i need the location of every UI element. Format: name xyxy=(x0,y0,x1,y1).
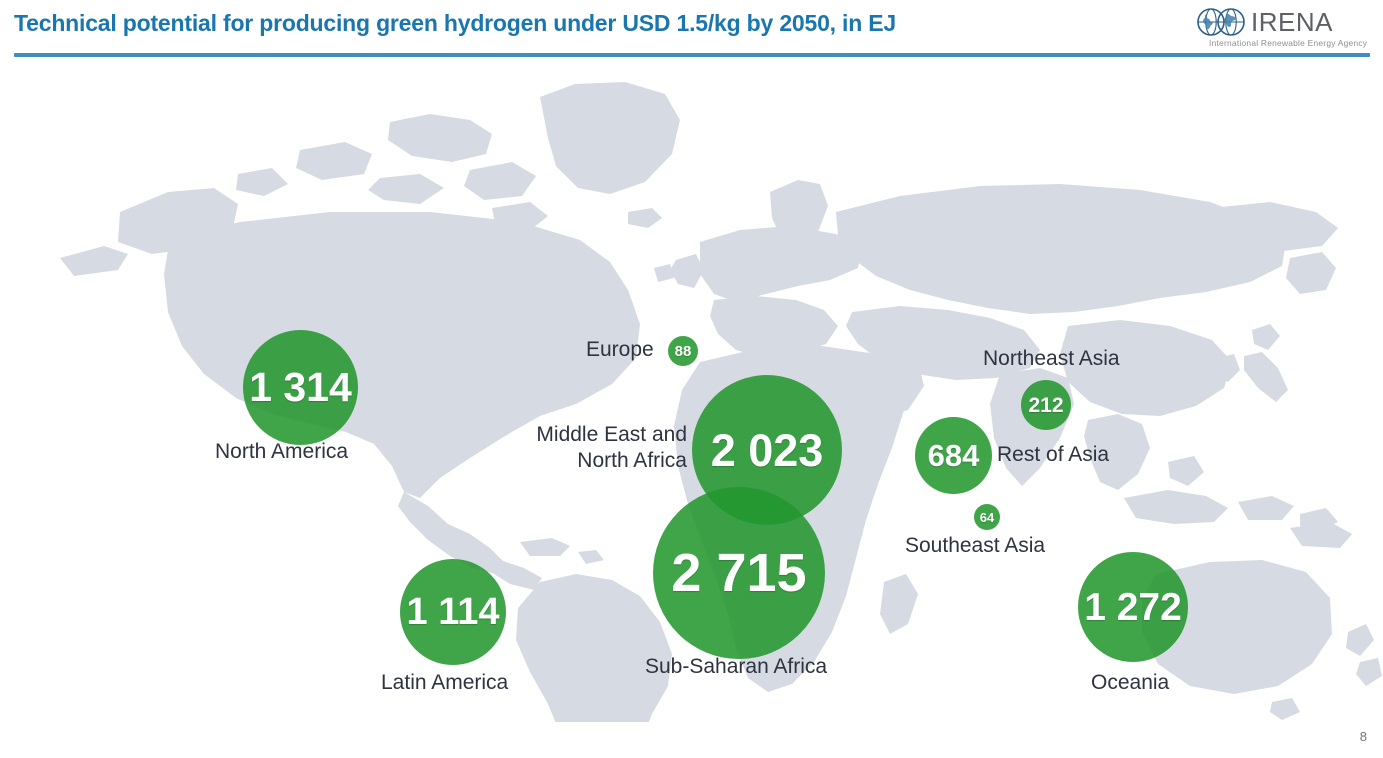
region-label-northeast-asia: Northeast Asia xyxy=(983,346,1120,372)
slide: Technical potential for producing green … xyxy=(0,0,1383,758)
bubble-value-mena: 2 023 xyxy=(711,428,824,473)
page-title: Technical potential for producing green … xyxy=(14,10,896,37)
bubble-value-sub-saharan-africa: 2 715 xyxy=(671,546,806,600)
bubble-latin-america[interactable]: 1 114 xyxy=(400,559,506,665)
world-bubble-map: Europe 88 1 314 North America 1 114 Lati… xyxy=(0,62,1383,722)
logo-brand-text: IRENA xyxy=(1251,7,1333,37)
bubble-north-america[interactable]: 1 314 xyxy=(243,330,358,445)
bubble-rest-of-asia[interactable]: 684 xyxy=(915,417,992,494)
title-divider xyxy=(14,53,1370,57)
region-label-north-america: North America xyxy=(215,439,348,465)
bubble-value-northeast-asia: 212 xyxy=(1028,395,1063,416)
bubble-value-oceania: 1 272 xyxy=(1084,588,1182,627)
bubble-value-rest-of-asia: 684 xyxy=(928,440,980,471)
bubble-value-north-america: 1 314 xyxy=(249,367,352,408)
region-label-mena-line2: North Africa xyxy=(577,449,687,472)
region-label-sub-saharan-africa: Sub-Saharan Africa xyxy=(645,654,827,680)
slide-header: Technical potential for producing green … xyxy=(0,0,1383,62)
bubble-value-latin-america: 1 114 xyxy=(407,593,500,631)
region-label-europe: Europe xyxy=(586,337,654,363)
region-label-southeast-asia: Southeast Asia xyxy=(905,533,1045,559)
globe-icon xyxy=(1198,9,1244,35)
bubble-europe[interactable]: 88 xyxy=(668,336,698,366)
bubble-value-europe: 88 xyxy=(675,344,692,359)
bubble-value-southeast-asia: 64 xyxy=(980,511,994,524)
region-label-mena: Middle East and North Africa xyxy=(452,422,687,474)
irena-logo: IRENA International Renewable Energy Age… xyxy=(1189,4,1375,52)
region-label-rest-of-asia: Rest of Asia xyxy=(997,442,1109,468)
bubble-northeast-asia[interactable]: 212 xyxy=(1021,380,1071,430)
page-number: 8 xyxy=(1360,729,1367,744)
bubble-sub-saharan-africa[interactable]: 2 715 xyxy=(653,487,825,659)
logo-tagline-text: International Renewable Energy Agency xyxy=(1209,38,1368,48)
region-label-latin-america: Latin America xyxy=(381,670,508,696)
region-label-mena-line1: Middle East and xyxy=(536,423,687,446)
bubble-oceania[interactable]: 1 272 xyxy=(1078,552,1188,662)
region-label-oceania: Oceania xyxy=(1091,670,1169,696)
bubble-southeast-asia[interactable]: 64 xyxy=(974,504,1000,530)
